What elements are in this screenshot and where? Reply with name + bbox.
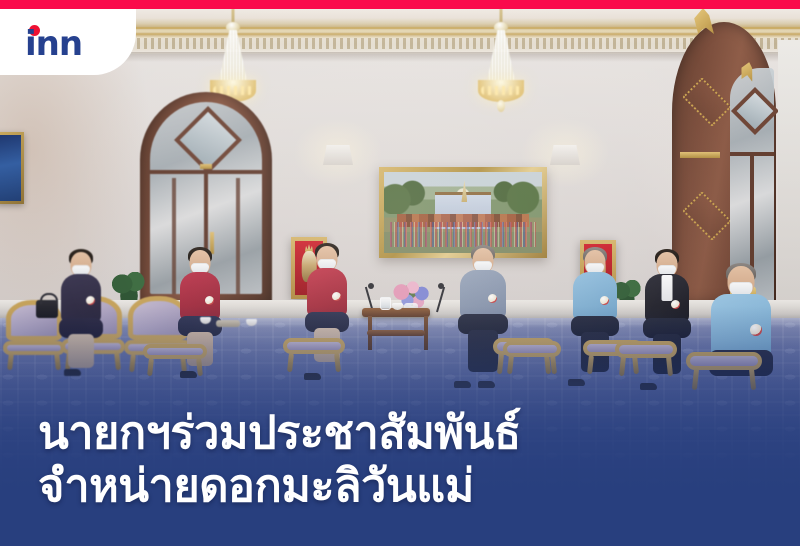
wall-painting-left — [0, 132, 24, 204]
jasmine-pin — [86, 296, 95, 305]
door-gold-band — [680, 152, 720, 158]
microphone-head — [438, 283, 444, 289]
mural-crowd — [390, 222, 535, 246]
microphone-head — [368, 283, 374, 289]
brand-logo-badge[interactable]: inn — [0, 9, 136, 75]
inn-logo: inn — [25, 25, 111, 59]
wall-right-slice — [778, 40, 800, 310]
top-accent-bar — [0, 0, 800, 9]
chandelier-drop — [497, 100, 505, 112]
mural-canvas — [384, 172, 542, 253]
wall-sconce — [550, 145, 580, 165]
door-mullion — [236, 178, 240, 294]
chandelier-lamps — [481, 86, 521, 95]
door-gold-stud-panel — [682, 77, 731, 126]
logo-wordmark: inn — [25, 29, 111, 59]
headline-text: นายกฯร่วมประชาสัมพันธ์ จำหน่ายดอกมะลิวัน… — [38, 406, 521, 512]
news-image-card: inn นายกฯร่วมประชาสัมพันธ์ จำหน่ายดอกมะล… — [0, 0, 800, 546]
framed-thai-mural — [379, 167, 547, 258]
door-hardware — [200, 164, 212, 169]
door-gold-stud-panel — [682, 191, 731, 240]
jasmine-pin — [205, 296, 214, 305]
wall-sconce — [323, 145, 353, 165]
